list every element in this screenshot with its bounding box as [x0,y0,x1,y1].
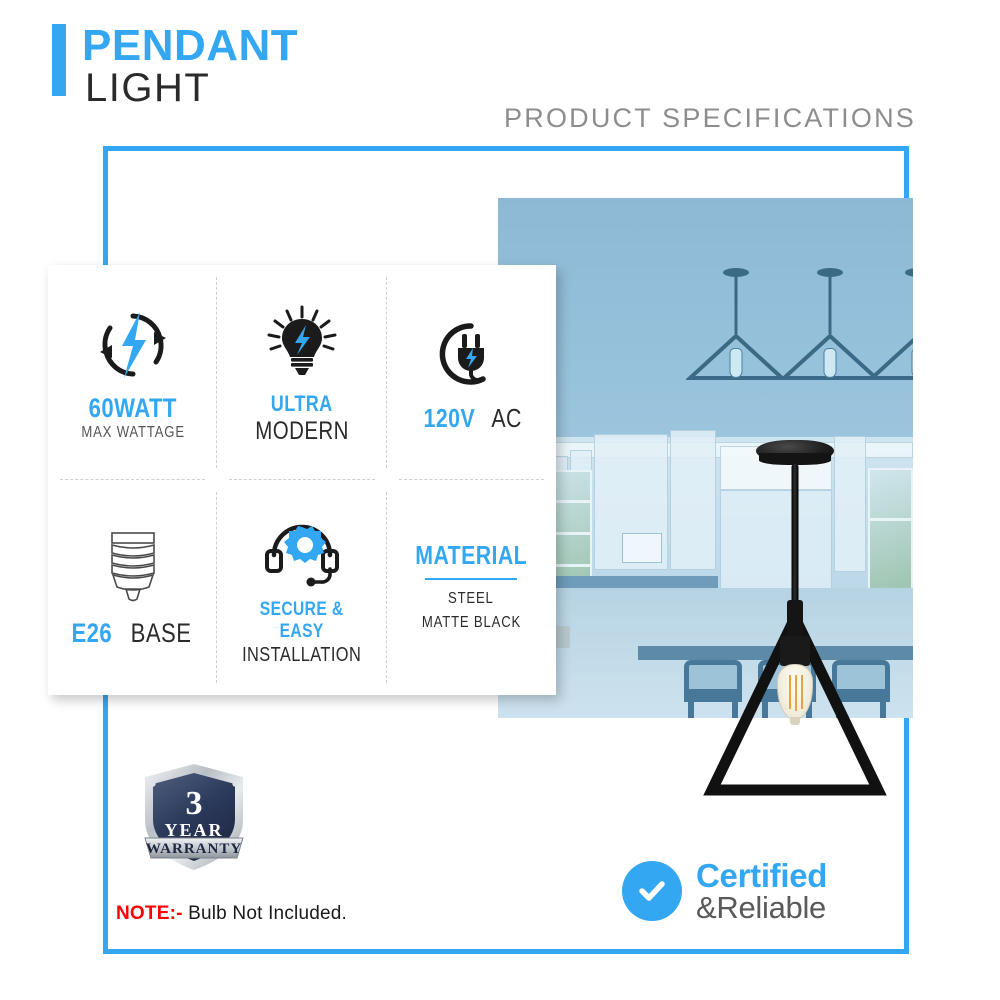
section-title: PRODUCT SPECIFICATIONS [504,103,916,134]
check-circle-icon [622,861,682,921]
spec-text-wattage: 60WATT MAX WATTAGE [70,394,196,442]
photo-background-pendant [686,268,786,388]
spec-label-installation: INSTALLATION [242,643,361,668]
photo-background-pendant [780,268,880,388]
spec-text-style: ULTRA MODERN [245,391,359,446]
note-body: Bulb Not Included. [188,903,347,924]
page-header: PENDANT LIGHT [52,24,298,108]
spec-value-voltage: 120V [423,404,474,433]
page-title-secondary: LIGHT [85,69,298,108]
spec-label-wattage: MAX WATTAGE [81,423,185,443]
power-recycle-bolt-icon [96,302,170,388]
spec-cell-voltage: 120V AC [387,265,556,480]
foreground-pendant-product [700,440,890,815]
triangle-frame-icon [868,332,913,382]
header-accent-bar [52,24,66,96]
e26-screw-base-icon [96,526,170,612]
spec-value-installation: SECURE & EASY [237,599,366,643]
spec-text-voltage: 120V AC [418,404,525,433]
photo-wall-art [622,533,662,563]
warranty-years: 3 [186,785,203,822]
spec-cell-material: MATERIAL STEEL MATTE BLACK [387,480,556,695]
pendant-cord [792,464,799,604]
page-title-primary: PENDANT [82,24,298,67]
spec-value-base: E26 [72,618,113,649]
power-plug-icon [434,312,508,398]
spec-label-voltage: AC [491,404,521,433]
certified-badge: Certified &Reliable [622,859,827,923]
note-prefix: NOTE:- [116,903,183,924]
headset-gear-icon [261,507,343,593]
note-text: NOTE:- Bulb Not Included. [116,903,347,925]
pendant-socket [787,600,803,640]
specifications-grid: 60WATT MAX WATTAGE [48,265,556,695]
pendant-bulb-holder [780,636,810,666]
spec-text-installation: SECURE & EASY INSTALLATION [223,599,380,668]
product-spec-page: PENDANT LIGHT PRODUCT SPECIFICATIONS [0,0,1000,1000]
spec-cell-installation: SECURE & EASY INSTALLATION [217,480,386,695]
warranty-ribbon-label: WARRANTY [146,841,242,857]
photo-background-pendant [868,268,913,388]
material-divider [425,578,517,580]
spec-value-material: MATERIAL [415,540,527,571]
certified-text: Certified &Reliable [696,859,827,923]
certified-line2: &Reliable [696,892,827,923]
spec-material-line1: STEEL [448,587,494,611]
spec-value-wattage: 60WATT [89,394,177,422]
lightbulb-bolt-icon [265,299,339,385]
specifications-card: 60WATT MAX WATTAGE [48,265,556,695]
spec-text-material: MATERIAL STEEL MATTE BLACK [403,540,539,635]
warranty-badge: 3 YEAR WARRANTY [139,762,249,874]
warranty-year-label: YEAR [164,820,223,840]
spec-label-style: MODERN [255,417,349,446]
spec-text-base: E26 BASE [67,618,198,649]
certified-line1: Certified [696,859,827,892]
spec-material-line2: MATTE BLACK [422,611,521,635]
header-text: PENDANT LIGHT [82,24,298,108]
spec-cell-base: E26 BASE [48,480,217,695]
spec-value-style: ULTRA [271,391,333,417]
spec-cell-style: ULTRA MODERN [217,265,386,480]
spec-cell-wattage: 60WATT MAX WATTAGE [48,265,217,480]
spec-label-base: BASE [131,618,192,649]
